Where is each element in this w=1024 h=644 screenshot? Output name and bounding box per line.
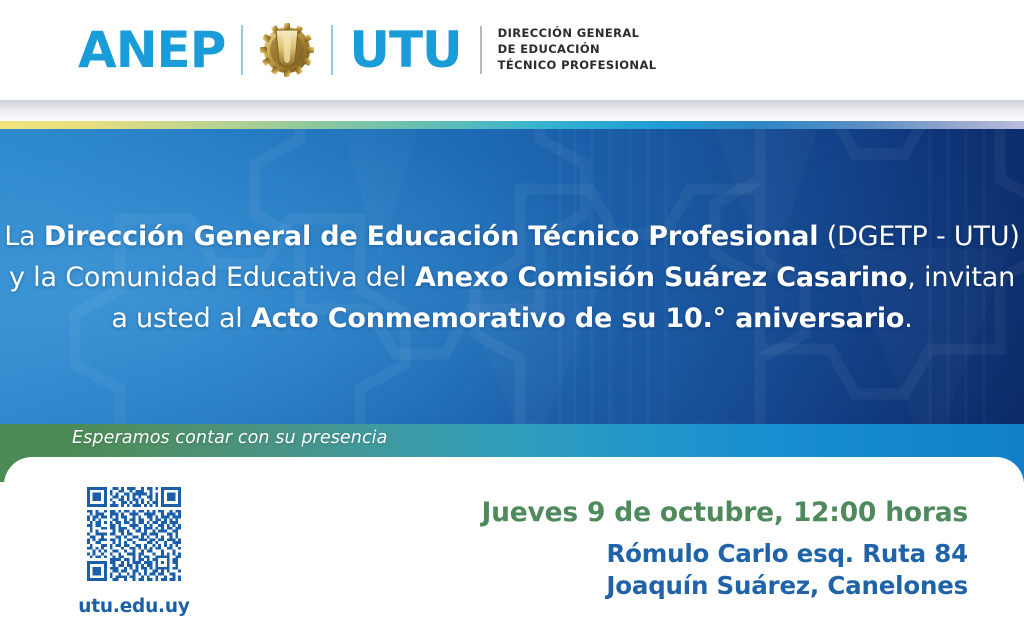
header-bar: ANEP — [0, 0, 1024, 100]
department-line-1: DIRECCIÓN GENERAL — [498, 26, 657, 42]
utu-gear-emblem-icon — [259, 20, 315, 80]
institutional-logo: ANEP — [78, 19, 656, 81]
invitation-band: La Dirección General de Educación Técnic… — [0, 129, 1024, 426]
invitation-line-3-prefix: a usted al — [111, 303, 251, 334]
accent-stripe — [0, 121, 1024, 129]
department-divider — [480, 26, 482, 74]
invitation-line-1-bold: Dirección General de Educación Técnico P… — [44, 221, 818, 252]
closing-message: Esperamos contar con su presencia — [72, 428, 387, 448]
invitation-line-2: y la Comunidad Educativa del Anexo Comis… — [9, 257, 1015, 298]
invitation-line-3: a usted al Acto Conmemorativo de su 10.°… — [111, 298, 912, 339]
utu-website-url[interactable]: utu.edu.uy — [70, 596, 198, 617]
invitation-line-2-bold: Anexo Comisión Suárez Casarino — [415, 262, 907, 293]
event-address-line-1: Rómulo Carlo esq. Ruta 84 — [481, 538, 968, 570]
logo-divider-left — [241, 25, 243, 75]
invitation-line-2-suffix: , invitan — [907, 262, 1015, 293]
invitation-poster: ANEP — [0, 0, 1024, 644]
qr-block[interactable]: utu.edu.uy — [70, 487, 198, 617]
department-line-3: TÉCNICO PROFESIONAL — [498, 58, 657, 74]
department-line-2: DE EDUCACIÓN — [498, 42, 657, 58]
anep-wordmark: ANEP — [78, 25, 225, 75]
invitation-line-1-suffix: (DGETP - UTU) — [818, 221, 1019, 252]
department-name: DIRECCIÓN GENERAL DE EDUCACIÓN TÉCNICO P… — [498, 26, 657, 74]
qr-code-icon[interactable] — [87, 487, 181, 581]
invitation-line-2-prefix: y la Comunidad Educativa del — [9, 262, 415, 293]
invitation-line-1-prefix: La — [4, 221, 44, 252]
utu-wordmark: UTU — [349, 25, 461, 75]
event-address-line-2: Joaquín Suárez, Canelones — [481, 570, 968, 602]
invitation-line-3-bold: Acto Conmemorativo de su 10.° aniversari… — [251, 303, 904, 334]
logo-divider-right — [331, 25, 333, 75]
header-shadow — [0, 100, 1024, 122]
invitation-line-3-suffix: . — [904, 303, 912, 334]
invitation-text-block: La Dirección General de Educación Técnic… — [0, 129, 1024, 426]
event-details: Jueves 9 de octubre, 12:00 horas Rómulo … — [481, 496, 968, 603]
invitation-line-1: La Dirección General de Educación Técnic… — [4, 216, 1019, 257]
event-date: Jueves 9 de octubre, 12:00 horas — [481, 496, 968, 530]
